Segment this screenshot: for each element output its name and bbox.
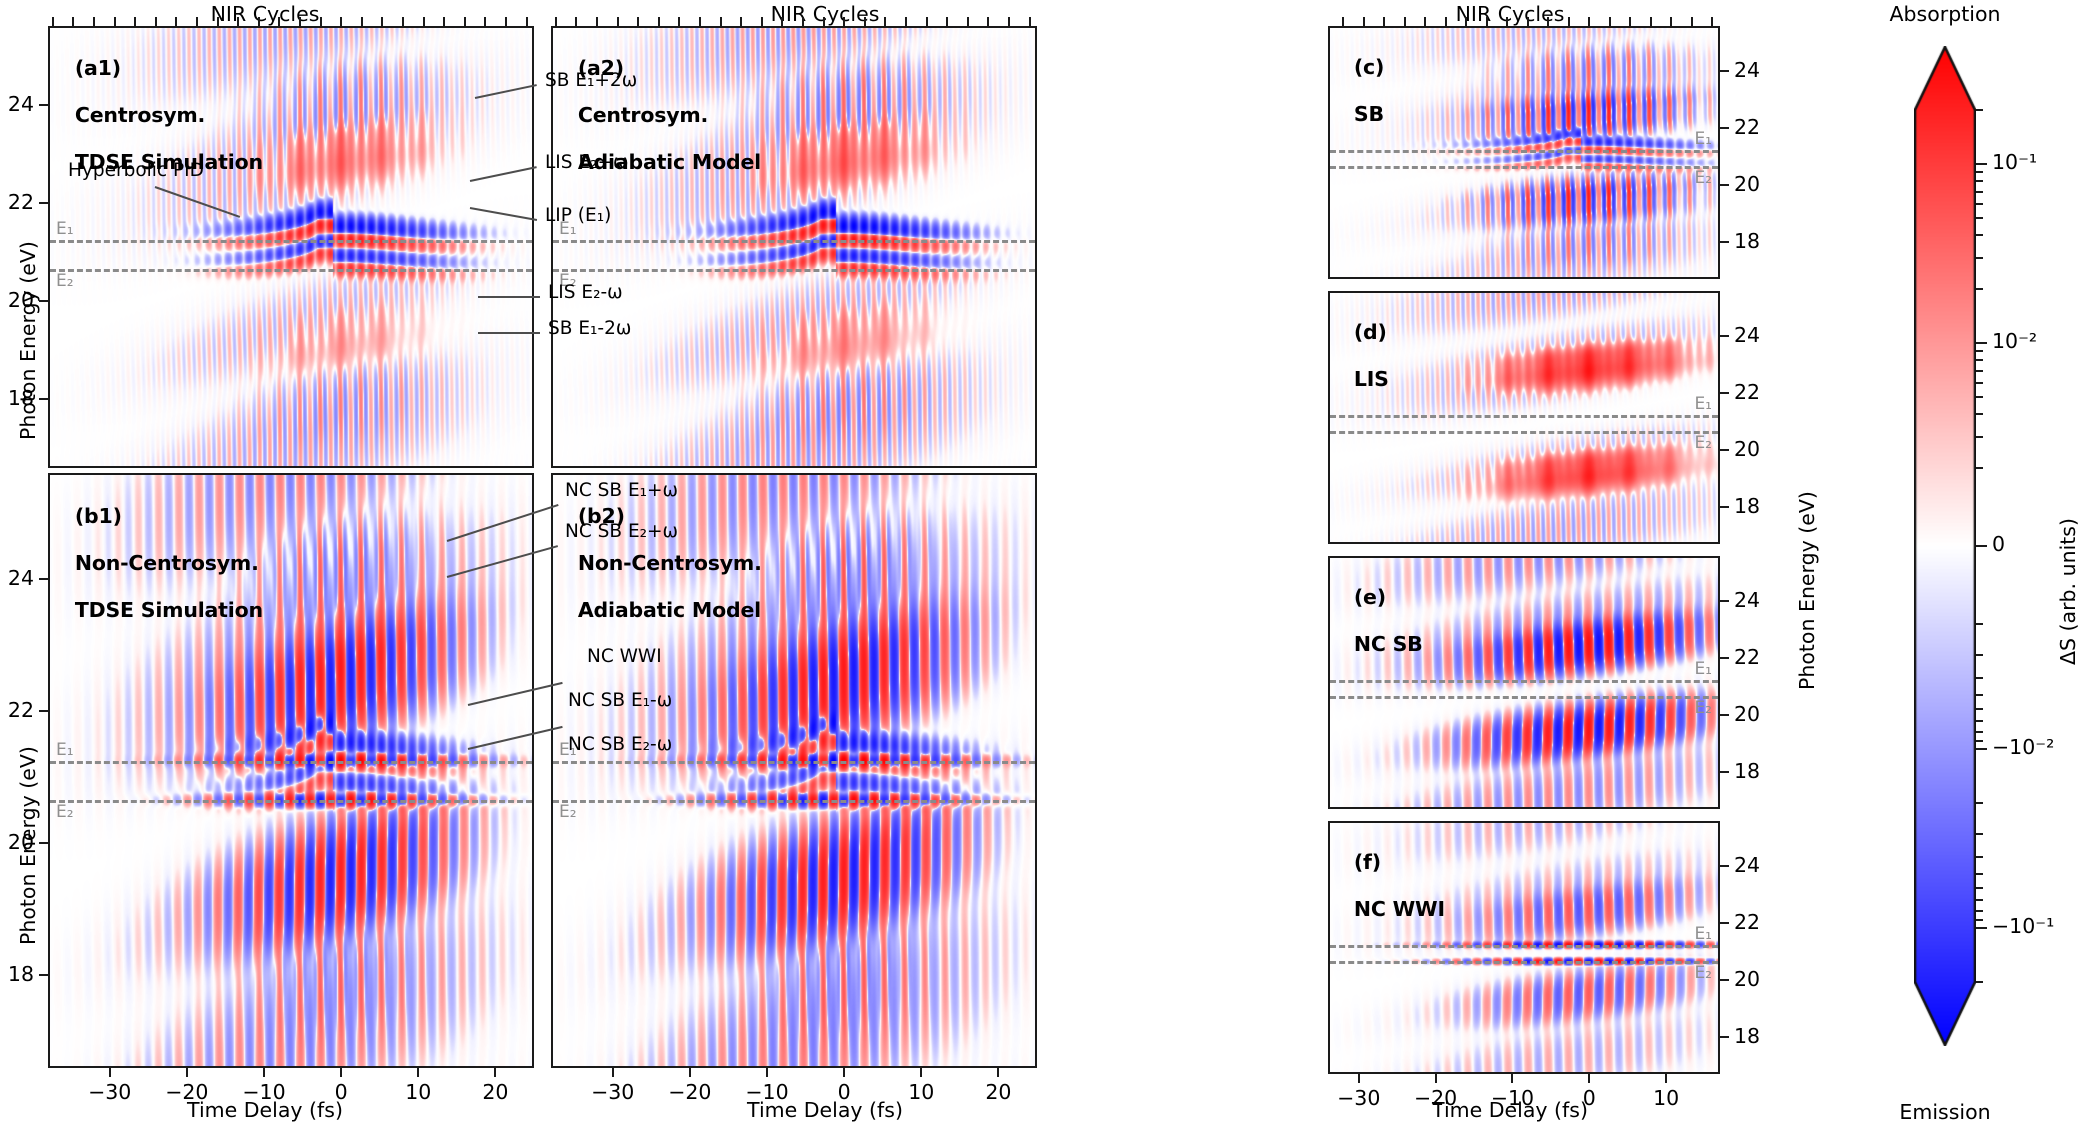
colorbar-minor-tick-27 — [1976, 708, 1983, 710]
d-ytick-label-20: 20 — [1734, 437, 1760, 461]
a1-ytick-label-18: 18 — [8, 386, 34, 410]
colorbar-minor-tick-29 — [1976, 720, 1983, 722]
a-left-top-tick--2 — [299, 17, 301, 26]
a-left-top-tick--9 — [155, 17, 157, 26]
panel-title-b2-line2: Adiabatic Model — [578, 598, 761, 622]
level-line-e1-b1 — [50, 761, 532, 764]
level-label-e2-b2: E₂ — [559, 802, 577, 822]
colorbar-tick-3 — [1976, 748, 1987, 751]
a-left-top-tick--4 — [258, 17, 260, 26]
colorbar-tick-2 — [1976, 545, 1987, 548]
side-top-tick--7 — [1445, 17, 1447, 26]
a-mid-top-tick--1 — [823, 17, 825, 26]
side-top-tick--6 — [1465, 17, 1467, 26]
a-mid-xtick-label--20: −20 — [668, 1080, 711, 1104]
colorbar-minor-tick-19 — [1976, 623, 1983, 625]
colorbar-minor-tick-18 — [1976, 467, 1983, 469]
level-label-e1-e: E₁ — [1694, 659, 1712, 679]
a1-ytick-24 — [39, 104, 48, 106]
panel-tag-e: (e) — [1354, 585, 1386, 609]
f-ytick-24 — [1720, 865, 1729, 867]
a-left-top-tick-1 — [361, 17, 363, 26]
colorbar-minor-tick-31 — [1976, 731, 1983, 733]
colorbar-tick-1 — [1976, 342, 1987, 345]
annotation-lis-e2-plus-omega: LIS E₂+ω — [545, 152, 629, 173]
a1-ytick-20 — [39, 300, 48, 302]
a-left-top-tick-7 — [484, 17, 486, 26]
colorbar-minor-tick-5 — [1976, 833, 1983, 835]
colorbar-minor-tick-32 — [1976, 350, 1983, 352]
a-mid-xtick-label-20: 20 — [985, 1080, 1011, 1104]
colorbar-minor-tick-30 — [1976, 359, 1983, 361]
colorbar-minor-tick-26 — [1976, 382, 1983, 384]
a-mid-top-tick--7 — [699, 17, 701, 26]
side-top-tick--10 — [1383, 17, 1385, 26]
e-ytick-label-20: 20 — [1734, 702, 1760, 726]
level-label-e2-a1: E₂ — [56, 271, 74, 291]
colorbar-tick-4 — [1976, 927, 1987, 930]
side-top-tick-5 — [1691, 17, 1693, 26]
side-top-tick--3 — [1527, 17, 1529, 26]
d-ytick-label-24: 24 — [1734, 323, 1760, 347]
side-xtick--20 — [1435, 1074, 1437, 1083]
panel-label-b2: (b2) Non-Centrosym. Adiabatic Model — [564, 482, 762, 622]
a1-ytick-label-24: 24 — [8, 92, 34, 116]
level-label-e2-d: E₂ — [1694, 433, 1712, 453]
a1-ytick-18 — [39, 398, 48, 400]
a-mid-xtick--10 — [766, 1068, 768, 1077]
a-left-xtick--20 — [186, 1068, 188, 1077]
side-xtick-10 — [1665, 1074, 1667, 1083]
side-top-tick--5 — [1486, 17, 1488, 26]
a-left-top-tick-9 — [526, 17, 528, 26]
a-mid-xtick-20 — [997, 1068, 999, 1077]
a-mid-xtick-label-0: 0 — [838, 1080, 851, 1104]
side-top-tick--9 — [1404, 17, 1406, 26]
colorbar-tick-label-3: −10⁻² — [1992, 735, 2054, 759]
side-top-tick-1 — [1609, 17, 1611, 26]
colorbar-minor-tick-15 — [1976, 910, 1983, 912]
side-xtick-label--30: −30 — [1337, 1086, 1380, 1110]
panel-label-a1: (a1) Centrosym. TDSE Simulation — [61, 34, 263, 174]
a-left-top-tick-2 — [381, 17, 383, 26]
side-top-tick--2 — [1547, 17, 1549, 26]
colorbar-minor-tick-33 — [1976, 740, 1983, 742]
colorbar-minor-tick-25 — [1976, 694, 1983, 696]
a-left-xtick-label-0: 0 — [335, 1080, 348, 1104]
f-ytick-label-24: 24 — [1734, 853, 1760, 877]
c-ytick-22 — [1720, 127, 1729, 129]
annotation-sb-e1-minus-2omega-leader — [478, 332, 540, 334]
panel-label-b1: (b1) Non-Centrosym. TDSE Simulation — [61, 482, 263, 622]
level-line-e1-c — [1330, 150, 1718, 153]
colorbar[interactable] — [1914, 46, 1976, 1046]
level-label-e1-d: E₁ — [1694, 394, 1712, 414]
a-left-top-tick-4 — [423, 17, 425, 26]
a-mid-xtick-0 — [843, 1068, 845, 1077]
annotation-nc-sb-e2-plus-omega: NC SB E₂+ω — [565, 521, 678, 542]
a-left-xtick-label--30: −30 — [88, 1080, 131, 1104]
a-left-top-tick--5 — [237, 17, 239, 26]
panel-title-b1-line2: TDSE Simulation — [75, 598, 263, 622]
b1-ytick-label-22: 22 — [8, 698, 34, 722]
side-xtick-0 — [1588, 1074, 1590, 1083]
colorbar-minor-tick-21 — [1976, 654, 1983, 656]
side-top-tick-2 — [1629, 17, 1631, 26]
side-top-tick--8 — [1424, 17, 1426, 26]
level-label-e2-f: E₂ — [1694, 963, 1712, 983]
f-ytick-label-20: 20 — [1734, 967, 1760, 991]
annotation-nc-sb-e1-plus-omega: NC SB E₁+ω — [565, 480, 678, 501]
a-mid-top-tick--14 — [555, 17, 557, 26]
a-left-top-tick--7 — [196, 17, 198, 26]
side-top-tick-3 — [1650, 17, 1652, 26]
colorbar-tick-label-1: 10⁻² — [1992, 329, 2037, 353]
e-ytick-22 — [1720, 657, 1729, 659]
a-left-xtick-20 — [494, 1068, 496, 1077]
f-ytick-22 — [1720, 922, 1729, 924]
a-mid-top-tick--11 — [617, 17, 619, 26]
f-ytick-18 — [1720, 1036, 1729, 1038]
colorbar-axis-title: ΔS (arb. units) — [2056, 518, 2080, 665]
a-mid-top-tick-3 — [905, 17, 907, 26]
a-mid-top-tick--9 — [658, 17, 660, 26]
annotation-lis-e2-minus-omega: LIS E₂-ω — [548, 282, 623, 303]
panel-title-b1-line1: Non-Centrosym. — [75, 551, 259, 575]
panel-tag-d: (d) — [1354, 320, 1387, 344]
side-top-tick--12 — [1342, 17, 1344, 26]
top-axis-title-left: NIR Cycles — [211, 2, 320, 26]
colorbar-minor-tick-11 — [1976, 887, 1983, 889]
d-ytick-20 — [1720, 449, 1729, 451]
a-mid-top-tick-1 — [864, 17, 866, 26]
a-mid-top-tick-8 — [1008, 17, 1010, 26]
panel-title-a2-line1: Centrosym. — [578, 103, 708, 127]
e-ytick-label-24: 24 — [1734, 588, 1760, 612]
colorbar-minor-tick-9 — [1976, 873, 1983, 875]
level-label-e2-e: E₂ — [1694, 698, 1712, 718]
colorbar-minor-tick-24 — [1976, 396, 1983, 398]
a-mid-top-tick--13 — [575, 17, 577, 26]
a-left-top-tick--14 — [52, 17, 54, 26]
a-left-top-tick--3 — [278, 17, 280, 26]
a-mid-xtick--20 — [689, 1068, 691, 1077]
a-left-top-tick--1 — [320, 17, 322, 26]
a-left-top-tick--10 — [134, 17, 136, 26]
level-label-e2-c: E₂ — [1694, 168, 1712, 188]
annotation-lip-e1: LIP (E₁) — [545, 205, 611, 226]
a-mid-top-tick--12 — [596, 17, 598, 26]
colorbar-top-label: Absorption — [1890, 2, 2001, 26]
side-top-tick-6 — [1711, 17, 1713, 26]
annotation-sb-e1-minus-2omega: SB E₁-2ω — [548, 318, 631, 339]
colorbar-minor-tick-2 — [1976, 288, 1983, 290]
level-line-e2-c — [1330, 166, 1718, 169]
colorbar-minor-tick-0 — [1976, 109, 1983, 111]
d-ytick-22 — [1720, 392, 1729, 394]
d-ytick-label-18: 18 — [1734, 494, 1760, 518]
f-ytick-label-18: 18 — [1734, 1024, 1760, 1048]
a-left-top-tick-3 — [402, 17, 404, 26]
e-ytick-18 — [1720, 771, 1729, 773]
panel-c[interactable]: E₁E₂ — [1328, 26, 1720, 279]
colorbar-bottom-label: Emission — [1899, 1100, 1990, 1124]
c-ytick-20 — [1720, 184, 1729, 186]
side-xtick--10 — [1511, 1074, 1513, 1083]
colorbar-minor-tick-20 — [1976, 436, 1983, 438]
level-line-e2-f — [1330, 961, 1718, 964]
panel-title-a1-line1: Centrosym. — [75, 103, 205, 127]
level-label-e1-c: E₁ — [1694, 129, 1712, 149]
panel-title-f: NC WWI — [1354, 897, 1445, 921]
colorbar-minor-tick-16 — [1976, 171, 1983, 173]
c-ytick-18 — [1720, 241, 1729, 243]
a-mid-top-tick--10 — [637, 17, 639, 26]
colorbar-minor-tick-22 — [1976, 413, 1983, 415]
colorbar-tick-label-2: 0 — [1992, 532, 2005, 556]
level-line-e2-b2 — [553, 800, 1035, 803]
a-left-top-tick--8 — [175, 17, 177, 26]
a-left-top-tick-0 — [340, 17, 342, 26]
annotation-sb-e1-plus-2omega: SB E₁+2ω — [545, 70, 637, 91]
a-left-top-tick-6 — [464, 17, 466, 26]
colorbar-minor-tick-12 — [1976, 191, 1983, 193]
side-top-tick-4 — [1670, 17, 1672, 26]
a-left-xtick-label--20: −20 — [165, 1080, 208, 1104]
b1-ytick-label-18: 18 — [8, 962, 34, 986]
panel-title-d: LIS — [1354, 367, 1389, 391]
a-mid-top-tick-4 — [926, 17, 928, 26]
a-mid-top-tick-9 — [1029, 17, 1031, 26]
level-line-e2-d — [1330, 431, 1718, 434]
level-line-e1-f — [1330, 945, 1718, 948]
side-xtick-label--10: −10 — [1491, 1086, 1534, 1110]
side-top-tick-0 — [1588, 17, 1590, 26]
colorbar-tick-label-0: 10⁻¹ — [1992, 150, 2037, 174]
colorbar-gradient — [1914, 46, 1976, 1046]
level-label-e1-f: E₁ — [1694, 924, 1712, 944]
panel-title-e: NC SB — [1354, 632, 1423, 656]
annotation-hyperbolic-pid: Hyperbolic PID — [68, 160, 204, 181]
colorbar-minor-tick-7 — [1976, 856, 1983, 858]
a-left-top-tick--12 — [93, 17, 95, 26]
panel-label-f: (f) NC WWI — [1340, 828, 1445, 921]
panel-tag-f: (f) — [1354, 850, 1381, 874]
level-line-e1-a2 — [553, 240, 1035, 243]
a1-ytick-label-22: 22 — [8, 190, 34, 214]
level-line-e2-b1 — [50, 800, 532, 803]
colorbar-minor-tick-28 — [1976, 370, 1983, 372]
c-ytick-label-18: 18 — [1734, 229, 1760, 253]
f-ytick-label-22: 22 — [1734, 910, 1760, 934]
c-ytick-label-20: 20 — [1734, 172, 1760, 196]
colorbar-minor-tick-10 — [1976, 203, 1983, 205]
a-mid-top-tick-6 — [967, 17, 969, 26]
e-ytick-24 — [1720, 600, 1729, 602]
colorbar-minor-tick-13 — [1976, 899, 1983, 901]
level-label-e1-b1: E₁ — [56, 740, 74, 760]
a1-ytick-22 — [39, 202, 48, 204]
panel-tag-a1: (a1) — [75, 56, 121, 80]
a-left-xtick-label--10: −10 — [242, 1080, 285, 1104]
c-ytick-24 — [1720, 70, 1729, 72]
annotation-nc-sb-e1-minus-omega: NC SB E₁-ω — [568, 690, 672, 711]
a-mid-xtick--30 — [612, 1068, 614, 1077]
level-line-e1-a1 — [50, 240, 532, 243]
level-line-e2-e — [1330, 696, 1718, 699]
a-mid-top-tick-0 — [843, 17, 845, 26]
panel-tag-c: (c) — [1354, 55, 1384, 79]
side-top-tick--1 — [1568, 17, 1570, 26]
a-left-top-tick--13 — [72, 17, 74, 26]
b1-ytick-24 — [39, 578, 48, 580]
c-ytick-label-22: 22 — [1734, 115, 1760, 139]
a-left-xtick-10 — [417, 1068, 419, 1077]
a-mid-top-tick--6 — [720, 17, 722, 26]
b1-ytick-18 — [39, 974, 48, 976]
level-line-e1-d — [1330, 415, 1718, 418]
e-ytick-label-18: 18 — [1734, 759, 1760, 783]
panel-label-c: (c) SB — [1340, 33, 1384, 126]
b1-ytick-20 — [39, 842, 48, 844]
level-line-e2-a1 — [50, 269, 532, 272]
colorbar-minor-tick-14 — [1976, 180, 1983, 182]
a-left-xtick-label-10: 10 — [405, 1080, 431, 1104]
a-mid-xtick-label-10: 10 — [908, 1080, 934, 1104]
a-mid-top-tick--2 — [802, 17, 804, 26]
colorbar-minor-tick-4 — [1976, 257, 1983, 259]
b1-ytick-label-24: 24 — [8, 566, 34, 590]
colorbar-minor-tick-6 — [1976, 234, 1983, 236]
colorbar-minor-tick-3 — [1976, 802, 1983, 804]
a-left-top-tick--6 — [217, 17, 219, 26]
colorbar-minor-tick-23 — [1976, 677, 1983, 679]
panel-label-e: (e) NC SB — [1340, 563, 1423, 656]
e-ytick-label-22: 22 — [1734, 645, 1760, 669]
d-ytick-label-22: 22 — [1734, 380, 1760, 404]
colorbar-minor-tick-1 — [1976, 981, 1983, 983]
e-ytick-20 — [1720, 714, 1729, 716]
side-xtick-label-10: 10 — [1653, 1086, 1679, 1110]
colorbar-tick-0 — [1976, 163, 1987, 166]
side-top-tick--4 — [1506, 17, 1508, 26]
b1-ytick-22 — [39, 710, 48, 712]
colorbar-minor-tick-8 — [1976, 217, 1983, 219]
panel-tag-b1: (b1) — [75, 504, 122, 528]
a1-ytick-label-20: 20 — [8, 288, 34, 312]
a-left-top-tick-8 — [505, 17, 507, 26]
a-left-xtick-label-20: 20 — [482, 1080, 508, 1104]
colorbar-minor-tick-17 — [1976, 919, 1983, 921]
side-xtick-label--20: −20 — [1414, 1086, 1457, 1110]
a-mid-top-tick-7 — [987, 17, 989, 26]
a-mid-xtick-10 — [920, 1068, 922, 1077]
side-xtick-label-0: 0 — [1583, 1086, 1596, 1110]
a-mid-top-tick--5 — [740, 17, 742, 26]
panel-title-b2-line1: Non-Centrosym. — [578, 551, 762, 575]
panel-title-c: SB — [1354, 102, 1384, 126]
b1-ytick-label-20: 20 — [8, 830, 34, 854]
side-xtick--30 — [1358, 1074, 1360, 1083]
a-mid-top-tick--8 — [678, 17, 680, 26]
a-left-top-tick--11 — [114, 17, 116, 26]
level-label-e1-a1: E₁ — [56, 219, 74, 239]
a-mid-top-tick--4 — [761, 17, 763, 26]
f-ytick-20 — [1720, 979, 1729, 981]
a-left-top-tick-5 — [443, 17, 445, 26]
side-top-tick--11 — [1363, 17, 1365, 26]
y-axis-title-right-column: Photon Energy (eV) — [1795, 491, 1819, 690]
level-line-e2-a2 — [553, 269, 1035, 272]
a-left-xtick--30 — [109, 1068, 111, 1077]
a-left-xtick-0 — [340, 1068, 342, 1077]
d-ytick-18 — [1720, 506, 1729, 508]
d-ytick-24 — [1720, 335, 1729, 337]
annotation-nc-wwi: NC WWI — [587, 646, 662, 667]
a-mid-xtick-label--30: −30 — [591, 1080, 634, 1104]
panel-label-d: (d) LIS — [1340, 298, 1389, 391]
annotation-lis-e2-minus-omega-leader — [478, 296, 540, 298]
level-line-e1-e — [1330, 680, 1718, 683]
a-mid-xtick-label--10: −10 — [745, 1080, 788, 1104]
a-mid-top-tick--3 — [781, 17, 783, 26]
a-mid-top-tick-5 — [946, 17, 948, 26]
c-ytick-label-24: 24 — [1734, 58, 1760, 82]
colorbar-tick-label-4: −10⁻¹ — [1992, 914, 2054, 938]
annotation-nc-sb-e2-minus-omega: NC SB E₂-ω — [568, 734, 672, 755]
a-left-xtick--10 — [263, 1068, 265, 1077]
a-mid-top-tick-2 — [884, 17, 886, 26]
level-line-e1-b2 — [553, 761, 1035, 764]
level-label-e2-b1: E₂ — [56, 802, 74, 822]
